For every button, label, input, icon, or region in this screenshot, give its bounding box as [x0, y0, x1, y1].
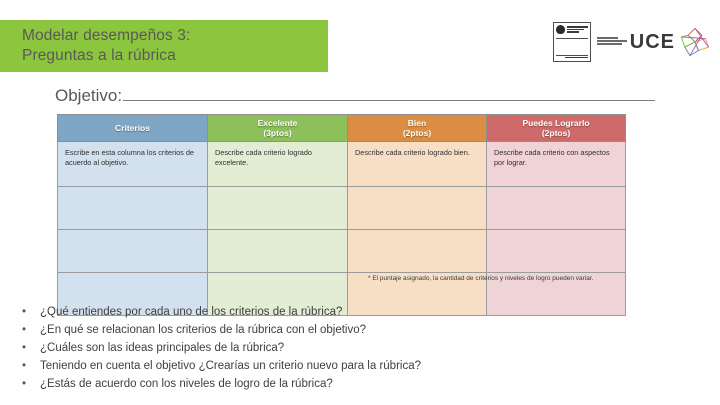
rubric-header-bien-points: (2ptos)	[348, 128, 486, 139]
rubric-cell[interactable]	[348, 187, 487, 230]
rubric-cell[interactable]: Describe cada criterio logrado excelente…	[208, 142, 348, 187]
rubric-cell[interactable]	[487, 230, 626, 273]
rubric-header-criterios: Criterios	[58, 115, 208, 142]
uce-wordmark: UCE	[630, 32, 675, 52]
objetivo-row: Objetivo:	[55, 84, 655, 106]
bullet-glyph: •	[22, 357, 26, 375]
ministry-wordmark-lines	[567, 25, 588, 33]
question-text: ¿Estás de acuerdo con los niveles de log…	[40, 378, 333, 390]
rubric-header-bien-title: Bien	[408, 118, 426, 128]
rubric-footnote: * El puntaje asignado, la cantidad de cr…	[368, 275, 593, 282]
rubric-header-puedes-lograrlo-points: (2ptos)	[487, 128, 625, 139]
title-banner: Modelar desempeños 3: Preguntas a la rúb…	[0, 20, 328, 72]
rubric-header-puedes-lograrlo: Puedes Lograrlo (2ptos)	[487, 115, 626, 142]
rubric-cell[interactable]	[58, 230, 208, 273]
rubric-header-excelente-points: (3ptos)	[208, 128, 347, 139]
rubric-header-criterios-title: Criterios	[115, 123, 150, 133]
bullet-glyph: •	[22, 375, 26, 393]
rubric-cell[interactable]	[487, 187, 626, 230]
question-text: ¿En qué se relacionan los criterios de l…	[40, 324, 366, 336]
rubric-cell[interactable]: Describe cada criterio con aspectos por …	[487, 142, 626, 187]
table-row: Escribe en esta columna los criterios de…	[58, 142, 626, 187]
bullet-glyph: •	[22, 321, 26, 339]
ministry-logo-footer	[556, 55, 588, 59]
table-row	[58, 187, 626, 230]
objetivo-blank-line[interactable]	[123, 84, 655, 101]
bullet-glyph: •	[22, 303, 26, 321]
objetivo-label: Objetivo:	[55, 86, 122, 106]
rubric-header-excelente-title: Excelente	[258, 118, 298, 128]
uce-star-icon	[678, 25, 712, 59]
question-text: ¿Qué entiendes por cada uno de los crite…	[40, 306, 342, 318]
uce-logo: UCE	[597, 25, 712, 59]
uce-subtitle-lines	[597, 37, 627, 47]
rubric-header-row: Criterios Excelente (3ptos) Bien (2ptos)…	[58, 115, 626, 142]
rubric-table: Criterios Excelente (3ptos) Bien (2ptos)…	[57, 114, 626, 316]
list-item: • ¿Qué entiendes por cada uno de los cri…	[16, 303, 656, 321]
logo-group: UCE	[553, 18, 712, 66]
rubric-header-bien: Bien (2ptos)	[348, 115, 487, 142]
list-item: • ¿Estás de acuerdo con los niveles de l…	[16, 375, 656, 393]
rubric-cell[interactable]	[208, 187, 348, 230]
rubric-cell[interactable]	[58, 187, 208, 230]
list-item: • Teniendo en cuenta el objetivo ¿Crearí…	[16, 357, 656, 375]
title-line-2: Preguntas a la rúbrica	[22, 46, 328, 66]
rubric-cell[interactable]: Describe cada criterio logrado bien.	[348, 142, 487, 187]
question-text: ¿Cuáles son las ideas principales de la …	[40, 342, 284, 354]
ministry-logo-body	[556, 39, 588, 55]
bullet-glyph: •	[22, 339, 26, 357]
rubric-cell[interactable]	[208, 230, 348, 273]
rubric-header-excelente: Excelente (3ptos)	[208, 115, 348, 142]
table-row	[58, 230, 626, 273]
question-list: • ¿Qué entiendes por cada uno de los cri…	[16, 303, 656, 393]
ministry-crest-icon	[556, 25, 565, 34]
ministry-of-education-logo	[553, 22, 591, 62]
rubric-cell[interactable]: Escribe en esta columna los criterios de…	[58, 142, 208, 187]
rubric-cell[interactable]	[348, 230, 487, 273]
list-item: • ¿En qué se relacionan los criterios de…	[16, 321, 656, 339]
question-text: Teniendo en cuenta el objetivo ¿Crearías…	[40, 360, 421, 372]
list-item: • ¿Cuáles son las ideas principales de l…	[16, 339, 656, 357]
rubric-header-puedes-lograrlo-title: Puedes Lograrlo	[522, 118, 589, 128]
title-line-1: Modelar desempeños 3:	[22, 26, 328, 46]
